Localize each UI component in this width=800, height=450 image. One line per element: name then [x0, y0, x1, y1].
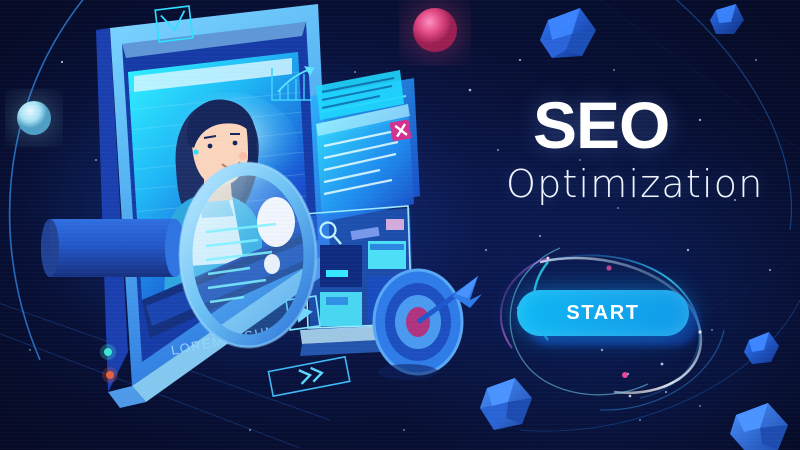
- background-decor-layer: [0, 0, 800, 450]
- magnifier-lens: [186, 169, 310, 341]
- monitor-illustration: LOREM IPSUM: [0, 0, 800, 450]
- magnified-content-lines: [206, 224, 276, 302]
- magnifier-rim: [186, 169, 310, 341]
- magnifier-handle: [41, 219, 185, 277]
- chevron-forward-icon[interactable]: [268, 357, 349, 396]
- lens-highlight-large: [257, 197, 295, 247]
- browser-panel-top: [316, 70, 404, 120]
- sphere-pale-glow: [10, 94, 58, 142]
- polyhedron-right-small: [744, 332, 779, 364]
- start-button-wrap: START: [495, 252, 710, 380]
- play-icon[interactable]: [286, 296, 320, 330]
- target-arrow: [418, 276, 482, 322]
- sphere-pink: [413, 8, 457, 52]
- magnifier-rim-outer: [180, 163, 316, 347]
- search-icon[interactable]: [321, 223, 342, 245]
- page-title: SEO: [533, 92, 669, 158]
- lens-highlight-small: [264, 254, 280, 274]
- diagonal-guide-lines: [0, 0, 800, 448]
- scanline-overlay: [0, 0, 800, 450]
- monitor-screen-content: [128, 52, 308, 300]
- target-bullseye: [406, 307, 430, 337]
- status-indicator-dots: [100, 344, 118, 383]
- seo-banner-stage: LOREM IPSUM: [0, 0, 800, 450]
- sphere-pale-left: [17, 101, 51, 135]
- panel-tag: [351, 227, 380, 240]
- sphere-purple-glow: [192, 26, 244, 78]
- sphere-pink-glow: [405, 0, 465, 60]
- sphere-purple: [198, 32, 238, 72]
- monitor-base: [108, 250, 342, 408]
- monitor-body: [96, 4, 330, 392]
- polyhedron-top-right: [540, 8, 596, 58]
- orbit-rings-layer: [0, 0, 800, 450]
- screen-caption: LOREM IPSUM: [170, 322, 279, 357]
- mail-icon: [155, 6, 193, 42]
- sphere-cyan-small: [280, 24, 302, 46]
- magnifier: [41, 163, 316, 347]
- page-subtitle: Optimization: [506, 162, 764, 206]
- avatar-person: [164, 99, 262, 300]
- search-card-panel: [304, 206, 414, 330]
- bar-chart-growth-icon: [272, 66, 314, 100]
- target-dartboard: [374, 270, 482, 380]
- polyhedron-bottom-center: [480, 378, 532, 430]
- panel-bottom-strip: [300, 324, 420, 356]
- browser-panel-front: [316, 72, 414, 228]
- monitor-lower-screen: [142, 232, 316, 338]
- start-button[interactable]: START: [517, 290, 689, 336]
- close-x-icon[interactable]: [390, 119, 412, 141]
- polyhedron-bottom-right: [730, 403, 788, 450]
- polyhedron-left-small: [710, 4, 744, 34]
- browser-panel-back: [310, 78, 420, 216]
